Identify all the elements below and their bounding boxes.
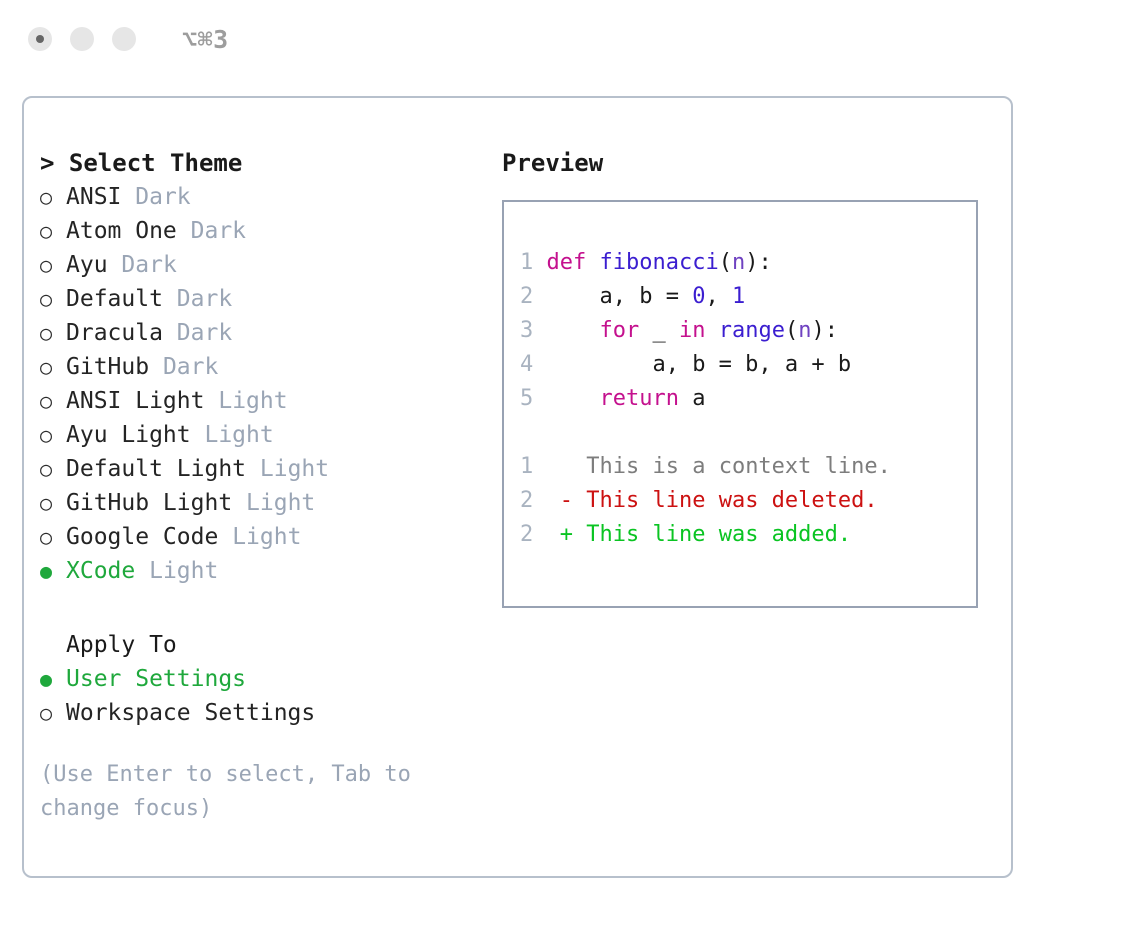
theme-option-spacer [121, 180, 135, 214]
diff-marker-ctx [560, 454, 573, 479]
code-token-plain: ( [785, 318, 798, 343]
diff-line: 1 This is a context line. [520, 450, 976, 484]
theme-option-spacer [108, 248, 122, 282]
theme-option-row[interactable]: ○Dracula Dark [40, 316, 494, 350]
diff-line-number: 2 [520, 488, 533, 513]
radio-unselected-icon[interactable]: ○ [40, 282, 66, 316]
theme-option-label: XCode [66, 554, 135, 588]
diff-marker-gap [573, 454, 586, 479]
diff-marker-del: - [560, 488, 573, 513]
traffic-light-maximize-icon[interactable] [112, 27, 136, 51]
spacer-code-diff [520, 416, 976, 450]
radio-unselected-icon[interactable]: ○ [40, 520, 66, 554]
code-token-param: n [798, 318, 811, 343]
radio-unselected-icon[interactable]: ○ [40, 350, 66, 384]
theme-option-label: ANSI Light [66, 384, 204, 418]
theme-option-label: Google Code [66, 520, 218, 554]
theme-option-spacer [149, 350, 163, 384]
theme-option-spacer [163, 282, 177, 316]
radio-unselected-icon[interactable]: ○ [40, 696, 66, 730]
diff-gutter-gap [533, 454, 560, 479]
apply-to-option-list: ●User Settings○Workspace Settings [40, 662, 494, 730]
theme-option-variant-badge: Dark [177, 316, 232, 350]
theme-option-variant-badge: Light [246, 486, 315, 520]
theme-option-variant-badge: Light [218, 384, 287, 418]
code-line-number: 2 [520, 284, 533, 309]
diff-line: 2 - This line was deleted. [520, 484, 976, 518]
theme-option-variant-badge: Light [204, 418, 273, 452]
code-gutter-gap [533, 318, 546, 343]
diff-marker-gap [573, 488, 586, 513]
radio-selected-icon[interactable]: ● [40, 554, 66, 588]
radio-unselected-icon[interactable]: ○ [40, 486, 66, 520]
theme-option-row[interactable]: ○Google Code Light [40, 520, 494, 554]
main-panel: > Select Theme ○ANSI Dark○Atom One Dark○… [22, 96, 1013, 878]
theme-option-label: Ayu Light [66, 418, 191, 452]
preview-column: Preview 1 def fibonacci(n):2 a, b = 0, 1… [494, 98, 1011, 876]
code-token-plain: a, b = b, a + b [547, 352, 852, 377]
code-token-plain: ( [719, 250, 732, 275]
theme-option-variant-badge: Light [260, 452, 329, 486]
apply-to-option-row[interactable]: ●User Settings [40, 662, 494, 696]
diff-marker-add: + [560, 522, 573, 547]
code-line: 2 a, b = 0, 1 [520, 280, 976, 314]
traffic-light-minimize-icon[interactable] [70, 27, 94, 51]
code-token-plain [547, 386, 600, 411]
code-token-fn: fibonacci [600, 250, 719, 275]
theme-option-row[interactable]: ○GitHub Light Light [40, 486, 494, 520]
code-line: 1 def fibonacci(n): [520, 246, 976, 280]
radio-unselected-icon[interactable]: ○ [40, 180, 66, 214]
code-gutter-gap [533, 352, 546, 377]
spacer-theme-apply [40, 588, 494, 628]
theme-option-label: Default [66, 282, 163, 316]
theme-option-label: ANSI [66, 180, 121, 214]
theme-option-spacer [246, 452, 260, 486]
diff-line-number: 2 [520, 522, 533, 547]
code-token-param: n [732, 250, 745, 275]
code-token-plain: , [705, 284, 732, 309]
radio-unselected-icon[interactable]: ○ [40, 248, 66, 282]
theme-option-spacer [163, 316, 177, 350]
theme-option-row[interactable]: ○Ayu Light Light [40, 418, 494, 452]
code-line: 5 return a [520, 382, 976, 416]
panel-content: > Select Theme ○ANSI Dark○Atom One Dark○… [24, 98, 1011, 876]
code-token-plain: ): [811, 318, 838, 343]
code-token-plain: a [679, 386, 706, 411]
radio-unselected-icon[interactable]: ○ [40, 316, 66, 350]
radio-unselected-icon[interactable]: ○ [40, 418, 66, 452]
theme-option-spacer [177, 214, 191, 248]
code-token-plain: ): [745, 250, 772, 275]
code-line-number: 5 [520, 386, 533, 411]
theme-option-row[interactable]: ○GitHub Dark [40, 350, 494, 384]
window-titlebar: ⌥⌘3 [0, 0, 1140, 78]
theme-option-variant-badge: Light [232, 520, 301, 554]
theme-option-variant-badge: Light [149, 554, 218, 588]
theme-option-label: GitHub [66, 350, 149, 384]
theme-option-label: Ayu [66, 248, 108, 282]
code-token-kw: def [547, 250, 587, 275]
code-token-plain: _ [639, 318, 679, 343]
traffic-light-close-icon[interactable] [28, 27, 52, 51]
theme-option-spacer [232, 486, 246, 520]
code-token-kw: in [679, 318, 706, 343]
window-title: ⌥⌘3 [182, 27, 229, 52]
code-preview-block: 1 def fibonacci(n):2 a, b = 0, 13 for _ … [520, 246, 976, 416]
theme-option-label: Atom One [66, 214, 177, 248]
theme-option-row[interactable]: ○ANSI Dark [40, 180, 494, 214]
radio-unselected-icon[interactable]: ○ [40, 214, 66, 248]
traffic-light-dot [36, 35, 44, 43]
code-token-num: 1 [732, 284, 745, 309]
theme-option-spacer [191, 418, 205, 452]
diff-preview-block: 1 This is a context line.2 - This line w… [520, 450, 976, 552]
diff-marker-gap [573, 522, 586, 547]
theme-option-label: Dracula [66, 316, 163, 350]
spacer-apply-hint [40, 730, 494, 758]
code-token-plain [586, 250, 599, 275]
theme-option-label: Default Light [66, 452, 246, 486]
code-token-kw: for [599, 318, 639, 343]
code-token-num: 0 [692, 284, 705, 309]
theme-option-variant-badge: Dark [191, 214, 246, 248]
apply-to-header: Apply To [40, 628, 494, 662]
app-root: ⌥⌘3 > Select Theme ○ANSI Dark○Atom One D… [0, 0, 1140, 934]
apply-to-option-label: User Settings [66, 662, 246, 696]
theme-option-row[interactable]: ○Default Dark [40, 282, 494, 316]
theme-option-label: GitHub Light [66, 486, 232, 520]
preview-title: Preview [502, 146, 1011, 180]
theme-option-variant-badge: Dark [135, 180, 190, 214]
window-controls [28, 27, 136, 51]
theme-option-spacer [204, 384, 218, 418]
code-line: 4 a, b = b, a + b [520, 348, 976, 382]
code-token-plain: a, b = [547, 284, 693, 309]
diff-gutter-gap [533, 488, 560, 513]
preview-box: 1 def fibonacci(n):2 a, b = 0, 13 for _ … [502, 200, 978, 608]
radio-selected-icon[interactable]: ● [40, 662, 66, 696]
theme-option-spacer [135, 554, 149, 588]
theme-option-spacer [218, 520, 232, 554]
code-token-fn: range [719, 318, 785, 343]
code-line-number: 3 [520, 318, 533, 343]
theme-option-variant-badge: Dark [121, 248, 176, 282]
radio-unselected-icon[interactable]: ○ [40, 384, 66, 418]
theme-option-row[interactable]: ○Ayu Dark [40, 248, 494, 282]
code-gutter-gap [533, 250, 546, 275]
apply-to-option-row[interactable]: ○Workspace Settings [40, 696, 494, 730]
diff-line-number: 1 [520, 454, 533, 479]
diff-line-text: This is a context line. [586, 454, 891, 479]
keyboard-hint-text: (Use Enter to select, Tab to change focu… [40, 758, 450, 826]
theme-option-variant-badge: Dark [163, 350, 218, 384]
code-gutter-gap [533, 284, 546, 309]
theme-option-row[interactable]: ○Default Light Light [40, 452, 494, 486]
theme-option-row[interactable]: ○ANSI Light Light [40, 384, 494, 418]
diff-line: 2 + This line was added. [520, 518, 976, 552]
diff-line-text: This line was added. [586, 522, 851, 547]
code-line: 3 for _ in range(n): [520, 314, 976, 348]
theme-option-row[interactable]: ○Atom One Dark [40, 214, 494, 248]
code-token-plain [547, 318, 600, 343]
code-gutter-gap [533, 386, 546, 411]
theme-option-variant-badge: Dark [177, 282, 232, 316]
code-line-number: 1 [520, 250, 533, 275]
theme-selector-column: > Select Theme ○ANSI Dark○Atom One Dark○… [24, 98, 494, 876]
theme-option-list: ○ANSI Dark○Atom One Dark○Ayu Dark○Defaul… [40, 180, 494, 588]
code-token-kw: return [599, 386, 678, 411]
diff-gutter-gap [533, 522, 560, 547]
code-line-number: 4 [520, 352, 533, 377]
radio-unselected-icon[interactable]: ○ [40, 452, 66, 486]
code-token-plain [705, 318, 718, 343]
select-theme-header: > Select Theme [40, 146, 494, 180]
apply-to-option-label: Workspace Settings [66, 696, 315, 730]
theme-option-row[interactable]: ●XCode Light [40, 554, 494, 588]
diff-line-text: This line was deleted. [586, 488, 877, 513]
